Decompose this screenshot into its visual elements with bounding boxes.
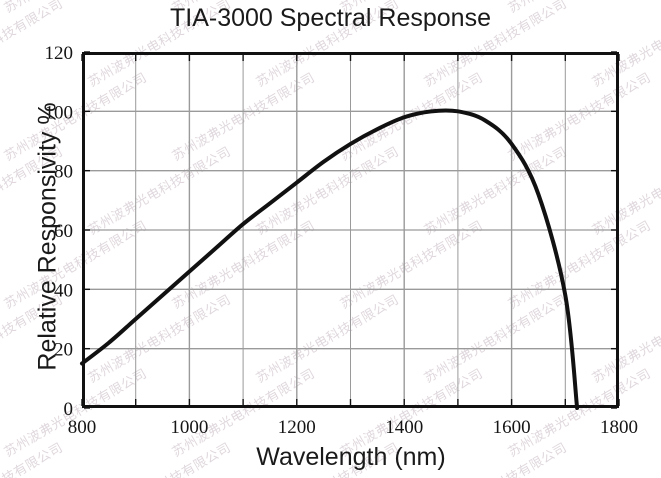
x-tick-labels: 80010001200140016001800 <box>68 417 638 438</box>
x-tick-label: 1800 <box>600 417 638 438</box>
chart-title: TIA-3000 Spectral Response <box>0 4 661 33</box>
y-axis-label: Relative Responsivity % <box>34 37 63 437</box>
x-tick-label: 1000 <box>170 417 208 438</box>
chart-figure: 苏州波弗光电科技有限公司苏州波弗光电科技有限公司苏州波弗光电科技有限公司苏州波弗… <box>0 0 661 478</box>
gridlines <box>84 54 618 407</box>
x-tick-label: 1200 <box>278 417 316 438</box>
x-tick-label: 1400 <box>385 417 423 438</box>
y-tick-label: 0 <box>64 399 74 420</box>
series-line <box>82 110 577 408</box>
plot-area: 80010001200140016001800 020406080100120 <box>0 0 661 478</box>
x-tick-label: 800 <box>68 417 97 438</box>
x-axis-label: Wavelength (nm) <box>82 443 620 472</box>
x-tick-label: 1600 <box>493 417 531 438</box>
